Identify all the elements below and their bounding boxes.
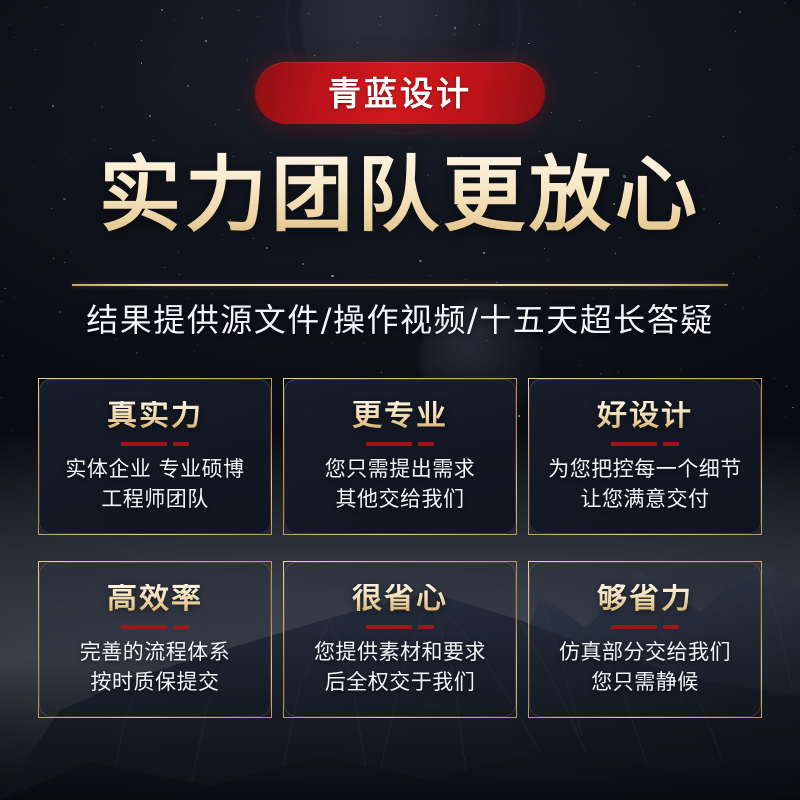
feature-card-title: 够省力 <box>597 584 693 614</box>
feature-card-grid: 真实力实体企业 专业硕博工程师团队更专业您只需提出需求其他交给我们好设计为您把控… <box>38 378 762 718</box>
feature-card-title: 更专业 <box>352 401 448 431</box>
gold-divider <box>72 284 728 286</box>
feature-card-title: 好设计 <box>597 401 693 431</box>
feature-card-line: 仿真部分交给我们 <box>559 638 731 668</box>
brand-badge[interactable]: 青蓝设计 <box>255 62 545 124</box>
feature-card-line: 为您把控每一个细节 <box>548 455 742 485</box>
feature-card-line: 让您满意交付 <box>581 485 710 515</box>
feature-card-divider <box>611 625 679 629</box>
feature-card[interactable]: 更专业您只需提出需求其他交给我们 <box>283 378 517 535</box>
feature-card-divider <box>611 442 679 446</box>
feature-card-divider <box>366 625 434 629</box>
feature-card-line: 完善的流程体系 <box>80 638 231 668</box>
feature-card-title: 真实力 <box>107 401 203 431</box>
feature-card[interactable]: 够省力仿真部分交给我们您只需静候 <box>528 561 762 718</box>
feature-card-line: 您只需提出需求 <box>325 455 476 485</box>
feature-card-title: 高效率 <box>107 584 203 614</box>
page-title: 实力团队更放心 <box>0 152 800 241</box>
poster-content: 青蓝设计 实力团队更放心 结果提供源文件/操作视频/十五天超长答疑 真实力实体企… <box>0 0 800 800</box>
brand-badge-wrapper: 青蓝设计 <box>0 62 800 124</box>
feature-card-line: 您只需静候 <box>591 668 699 698</box>
feature-card-divider <box>121 625 189 629</box>
feature-card-line: 其他交给我们 <box>336 485 465 515</box>
feature-card-divider <box>366 442 434 446</box>
feature-card-line: 按时质保提交 <box>91 668 220 698</box>
feature-card[interactable]: 高效率完善的流程体系按时质保提交 <box>38 561 272 718</box>
feature-card-line: 您提供素材和要求 <box>314 638 486 668</box>
feature-card[interactable]: 好设计为您把控每一个细节让您满意交付 <box>528 378 762 535</box>
brand-badge-label: 青蓝设计 <box>328 77 472 110</box>
feature-card-line: 实体企业 专业硕博 <box>65 455 244 485</box>
feature-card[interactable]: 很省心您提供素材和要求后全权交于我们 <box>283 561 517 718</box>
feature-card[interactable]: 真实力实体企业 专业硕博工程师团队 <box>38 378 272 535</box>
subtitle-text: 结果提供源文件/操作视频/十五天超长答疑 <box>0 300 800 342</box>
promo-poster: 青蓝设计 实力团队更放心 结果提供源文件/操作视频/十五天超长答疑 真实力实体企… <box>0 0 800 800</box>
feature-card-line: 后全权交于我们 <box>325 668 476 698</box>
feature-card-line: 工程师团队 <box>101 485 209 515</box>
feature-card-divider <box>121 442 189 446</box>
feature-card-title: 很省心 <box>352 584 448 614</box>
